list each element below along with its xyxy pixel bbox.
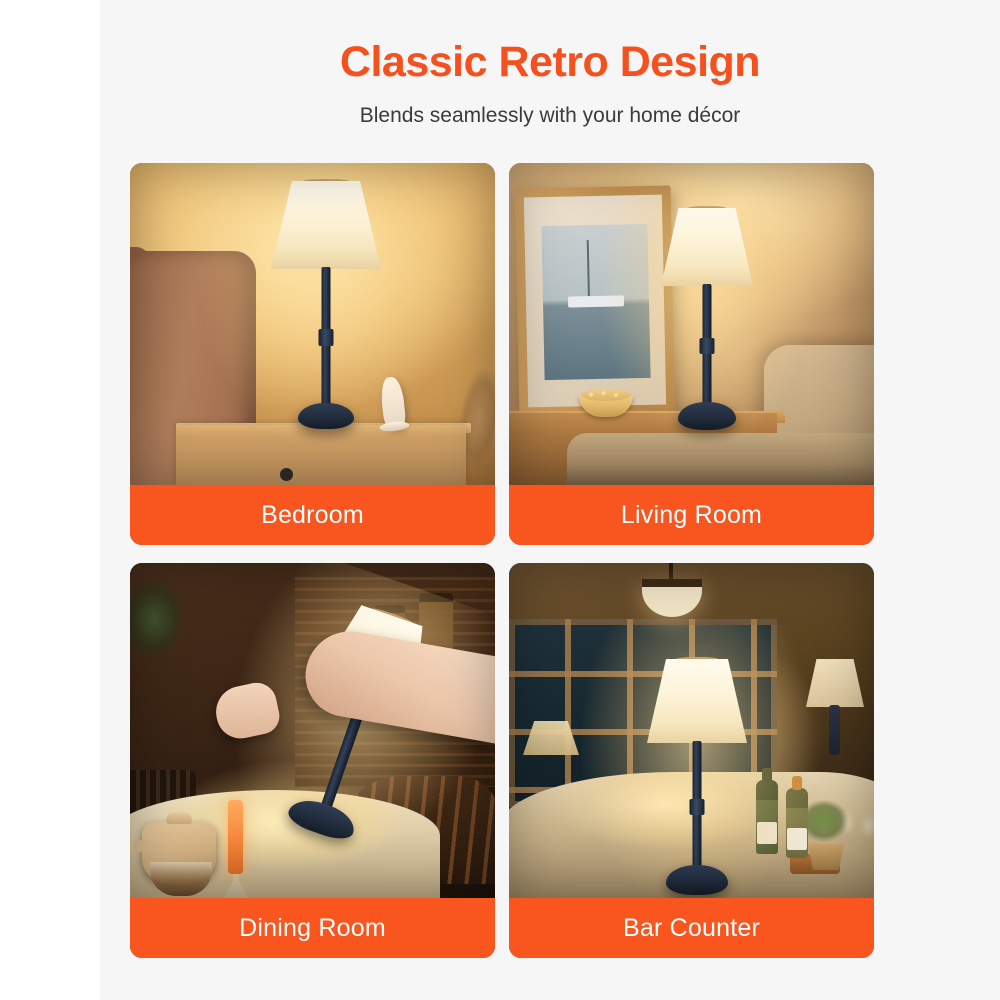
houseplant bbox=[130, 567, 194, 697]
background-lamp-stem bbox=[829, 705, 840, 755]
scene-photo-bedroom bbox=[130, 163, 495, 485]
table-lamp bbox=[642, 659, 752, 898]
sailboat-artwork bbox=[541, 224, 650, 380]
lamp-collar bbox=[319, 329, 334, 346]
scene-photo-bar-counter bbox=[509, 563, 874, 898]
scene-photo-living-room bbox=[509, 163, 874, 485]
page-subtitle: Blends seamlessly with your home décor bbox=[100, 104, 1000, 128]
orange-candle bbox=[228, 800, 243, 874]
wine-bottle bbox=[786, 788, 808, 858]
header: Classic Retro Design Blends seamlessly w… bbox=[100, 0, 1000, 128]
drawer-knob bbox=[280, 468, 293, 481]
lamp-base bbox=[666, 865, 728, 895]
scene-label-bar-counter: Bar Counter bbox=[509, 898, 874, 958]
scene-card-bedroom[interactable]: Bedroom bbox=[130, 163, 495, 545]
lamp-shade bbox=[647, 659, 747, 743]
scene-card-bar-counter[interactable]: Bar Counter bbox=[509, 563, 874, 958]
lamp-shade bbox=[661, 208, 753, 286]
scene-label-living-room: Living Room bbox=[509, 485, 874, 545]
product-feature-image: Classic Retro Design Blends seamlessly w… bbox=[0, 0, 1000, 1000]
background-lamp-shade bbox=[806, 659, 864, 707]
scene-card-dining-room[interactable]: Dining Room bbox=[130, 563, 495, 958]
scene-label-bedroom: Bedroom bbox=[130, 485, 495, 545]
lamp-collar bbox=[700, 338, 715, 354]
background-lamp-left bbox=[523, 721, 581, 791]
scene-photo-dining-room bbox=[130, 563, 495, 898]
wine-bottle bbox=[756, 780, 778, 854]
table-lamp bbox=[657, 208, 757, 433]
lamp-collar bbox=[690, 799, 705, 815]
background-lamp-right bbox=[800, 659, 870, 755]
scene-grid: Bedroom bbox=[130, 163, 874, 958]
lamp-shade bbox=[271, 181, 381, 269]
sofa-seat bbox=[567, 433, 874, 485]
table-lamp bbox=[266, 181, 386, 435]
lamp-base bbox=[678, 402, 736, 430]
scene-label-dining-room: Dining Room bbox=[130, 898, 495, 958]
page-title: Classic Retro Design bbox=[100, 38, 1000, 87]
background-lamp-shade bbox=[523, 721, 579, 755]
picture-frame bbox=[515, 185, 676, 416]
lamp-base bbox=[298, 403, 354, 429]
scene-card-living-room[interactable]: Living Room bbox=[509, 163, 874, 545]
